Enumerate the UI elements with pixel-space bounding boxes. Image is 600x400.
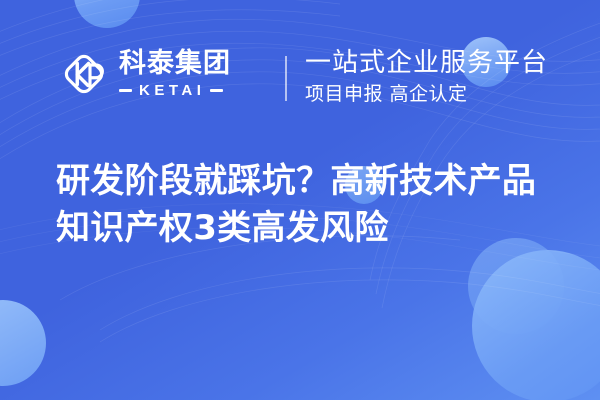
- page-title: 研发阶段就踩坑？高新技术产品知识产权3类高发风险: [56, 158, 556, 252]
- brand-text-block: 科泰集团 KETAI: [119, 50, 231, 97]
- circle-right-mid-icon: [468, 238, 564, 334]
- brand-name-cn: 科泰集团: [119, 50, 231, 78]
- circle-right-bottom-icon: [472, 250, 600, 400]
- tagline-main: 一站式企业服务平台: [305, 47, 548, 80]
- dash-left-icon: [119, 89, 132, 92]
- brand-lockup: 科泰集团 KETAI: [60, 50, 231, 98]
- header-divider: [285, 56, 287, 101]
- circle-left-bottom-icon: [0, 300, 46, 386]
- dash-right-icon: [210, 89, 223, 92]
- banner-header: 科泰集团 KETAI 一站式企业服务平台 项目申报 高企认定: [0, 0, 600, 150]
- ketai-diamond-kp-logo-icon: [60, 50, 108, 98]
- brand-name-en: KETAI: [139, 83, 205, 98]
- tagline-block: 一站式企业服务平台 项目申报 高企认定: [305, 47, 548, 107]
- promo-banner: 科泰集团 KETAI 一站式企业服务平台 项目申报 高企认定 研发阶段就踩坑？高…: [0, 0, 600, 400]
- brand-name-en-row: KETAI: [119, 83, 231, 98]
- tagline-sub: 项目申报 高企认定: [305, 83, 548, 107]
